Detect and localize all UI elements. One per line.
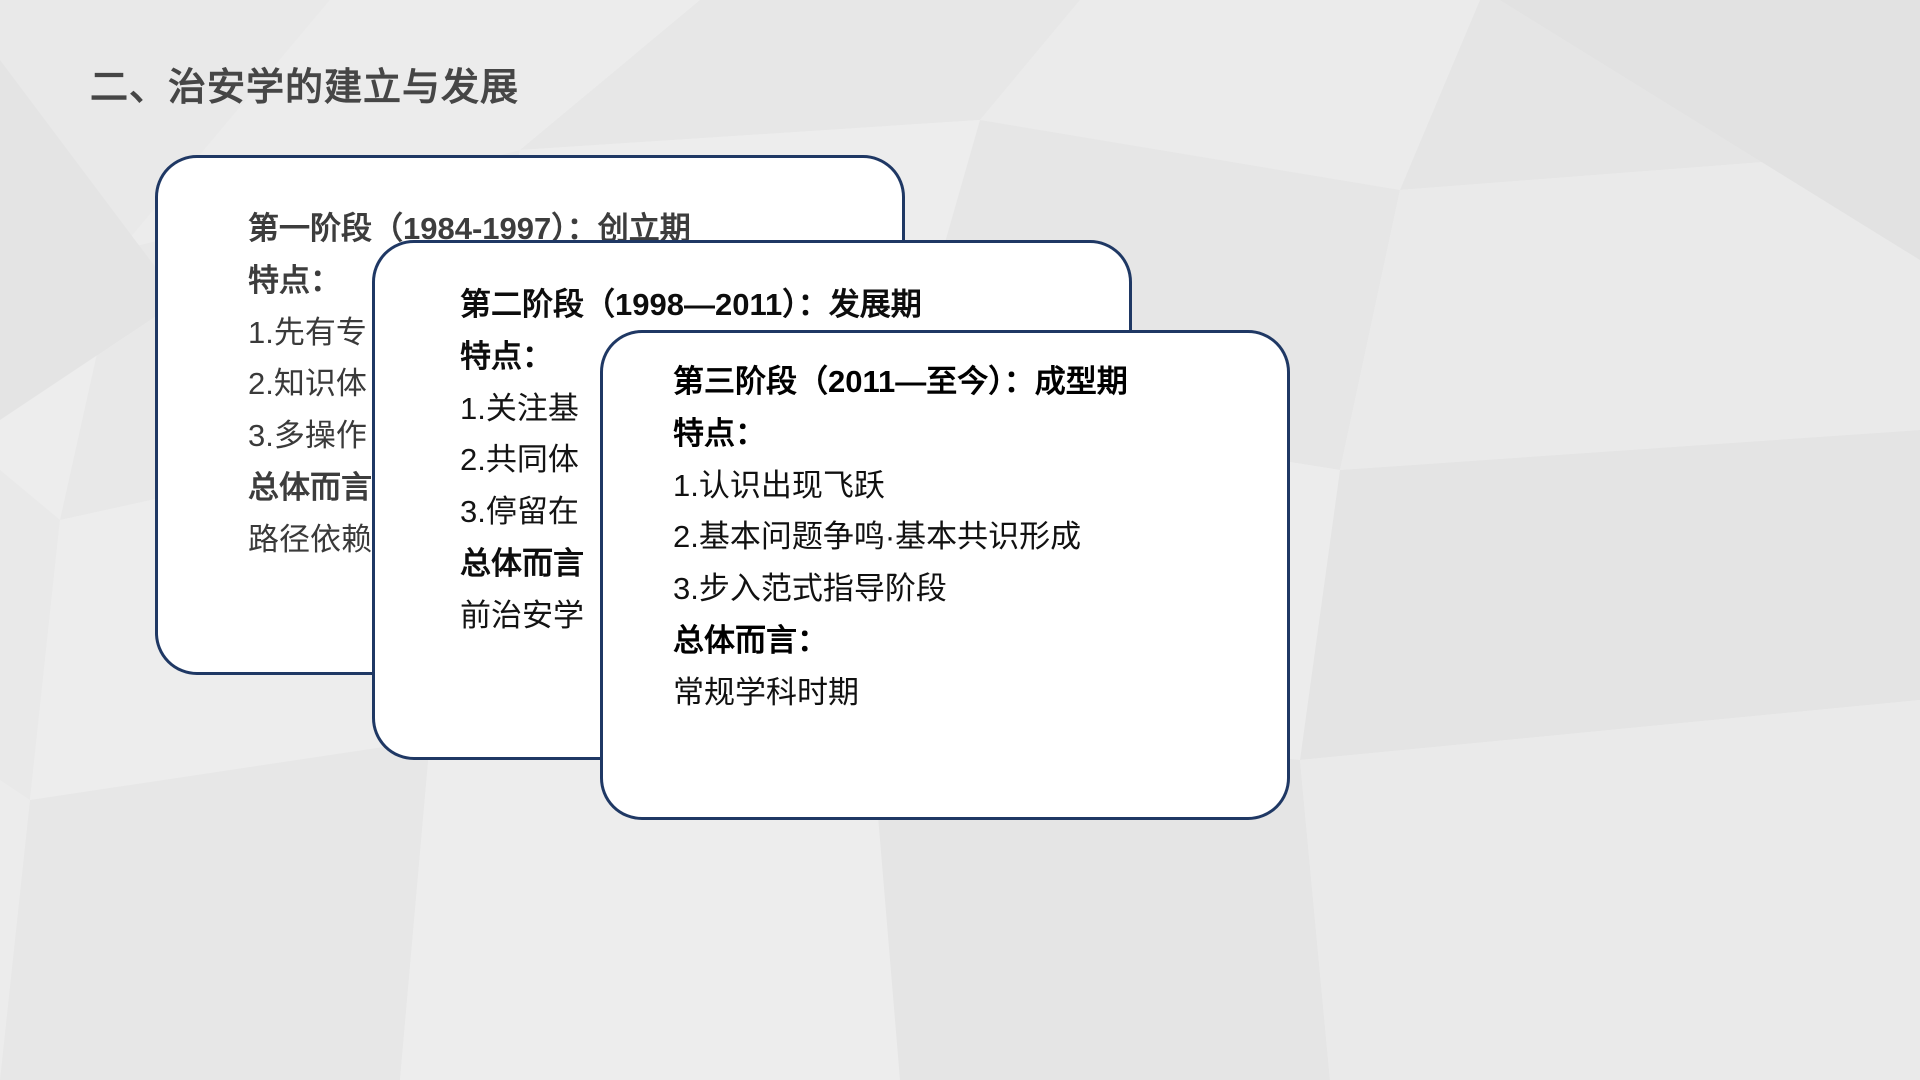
stage-card-3-summary: 常规学科时期 [673,674,1128,713]
stage-card-3-content: 第三阶段（2011—至今）：成型期 特点： 1.认识出现飞跃 2.基本问题争鸣·… [673,363,1128,712]
slide-canvas: 二、治安学的建立与发展 第一阶段（1984-1997）：创立期 特点： 1.先有… [0,0,1920,1080]
stage-card-3-summary-label: 总体而言： [673,622,1128,661]
stage-card-2-title: 第二阶段（1998—2011）：发展期 [460,286,922,325]
stage-card-3-title: 第三阶段（2011—至今）：成型期 [673,363,1128,402]
stage-card-3-feature-1: 1.认识出现飞跃 [673,467,1128,506]
stage-card-3[interactable]: 第三阶段（2011—至今）：成型期 特点： 1.认识出现飞跃 2.基本问题争鸣·… [600,330,1290,820]
stage-card-3-feature-label: 特点： [673,415,1128,454]
page-title: 二、治安学的建立与发展 [90,56,519,111]
stage-card-3-feature-2: 2.基本问题争鸣·基本共识形成 [673,518,1128,557]
stage-card-3-feature-3: 3.步入范式指导阶段 [673,570,1128,609]
